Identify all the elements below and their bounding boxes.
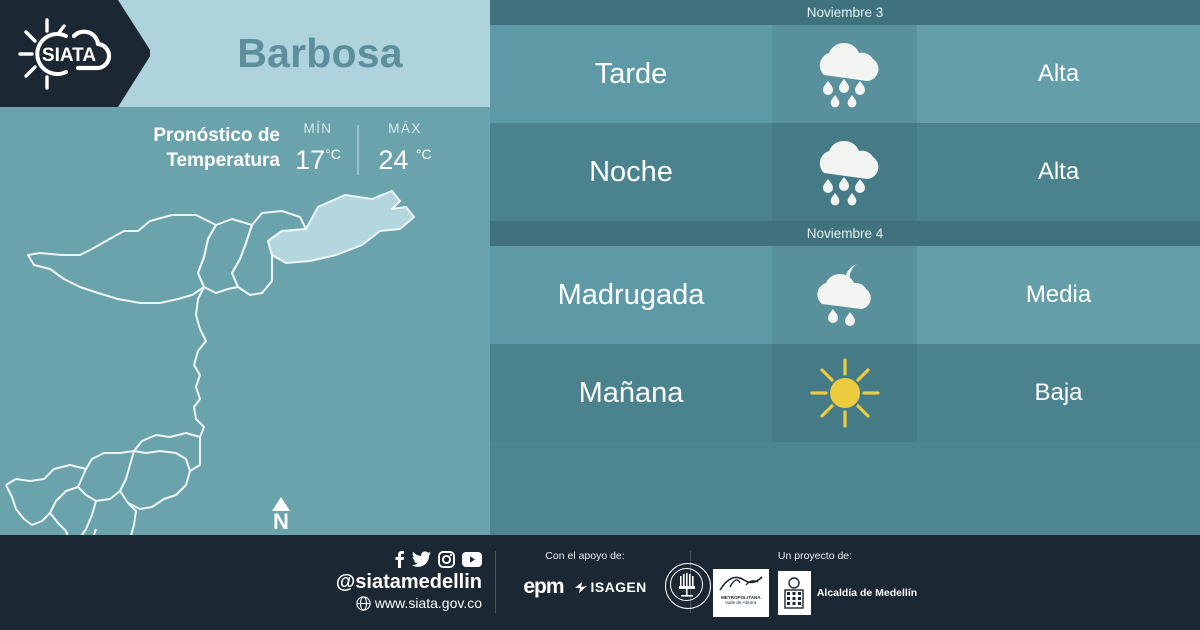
forecast-level: Media bbox=[917, 246, 1200, 344]
support-block: Con el apoyo de: epm ISAGEN bbox=[505, 550, 665, 599]
project-logos: METROPOLITANA Valle de Aburrá Alcaldía d… bbox=[700, 569, 930, 617]
temperature-min: MÍN 17°C bbox=[282, 119, 354, 175]
temperature-min-label: MÍN bbox=[282, 119, 354, 139]
globe-icon bbox=[356, 596, 371, 611]
isagen-logo: ISAGEN bbox=[574, 579, 647, 595]
temperature-divider bbox=[357, 125, 359, 175]
twitter-icon[interactable] bbox=[412, 551, 431, 567]
moon-cloud-rain-icon bbox=[772, 246, 917, 344]
alcaldia-label: Alcaldía de Medellín bbox=[817, 587, 917, 599]
forecast-period: Madrugada bbox=[490, 246, 772, 344]
footer-divider-1 bbox=[495, 551, 496, 613]
forecast-level: Alta bbox=[917, 123, 1200, 221]
area-logo-line2: Valle de Aburrá bbox=[713, 600, 769, 605]
forecast-period: Tarde bbox=[490, 25, 772, 123]
website-line[interactable]: www.siata.gov.co bbox=[330, 594, 482, 612]
min-degree-unit: °C bbox=[325, 146, 341, 162]
date-band-day2: Noviembre 4 bbox=[490, 221, 1200, 246]
rain-cloud-icon bbox=[772, 123, 917, 221]
temperature-title: Pronóstico de Temperatura bbox=[30, 123, 280, 173]
epm-logo: epm bbox=[523, 575, 563, 599]
left-panel: SIATA Barbosa Pronóstico de Temperatura … bbox=[0, 0, 490, 535]
compass-north: N bbox=[272, 497, 290, 532]
left-header: SIATA Barbosa bbox=[0, 0, 490, 107]
social-block: @siatamedellin www.siata.gov.co bbox=[330, 549, 482, 612]
forecast-period: Noche bbox=[490, 123, 772, 221]
forecast-level: Baja bbox=[917, 344, 1200, 442]
sun-cloud-icon: SIATA bbox=[14, 14, 124, 94]
left-body: Pronóstico de Temperatura MÍN 17°C MÁX 2… bbox=[0, 107, 490, 535]
temperature-title-line1: Pronóstico de bbox=[30, 123, 280, 148]
date-band-day1: Noviembre 3 bbox=[490, 0, 1200, 25]
youtube-icon[interactable] bbox=[462, 552, 482, 567]
precipitation-panel: Pronóstico de Precipitación Noviembre 3 … bbox=[490, 0, 1200, 535]
compass-label: N bbox=[273, 509, 289, 534]
isagen-mark-icon bbox=[574, 581, 588, 594]
forecast-row: Madrugada Media bbox=[490, 246, 1200, 344]
temperature-max: MÁX 24 °C bbox=[362, 119, 448, 175]
forecast-level: Alta bbox=[917, 25, 1200, 123]
instagram-icon[interactable] bbox=[438, 551, 455, 568]
rain-cloud-icon bbox=[772, 25, 917, 123]
website-text: www.siata.gov.co bbox=[375, 594, 482, 612]
municipality-map: N bbox=[0, 169, 490, 535]
forecast-row: Tarde Alta bbox=[490, 25, 1200, 123]
footer: @siatamedellin www.siata.gov.co Con el a… bbox=[0, 535, 1200, 630]
max-degree-unit: °C bbox=[416, 146, 432, 162]
forecast-period: Mañana bbox=[490, 344, 772, 442]
forecast-row: Noche Alta bbox=[490, 123, 1200, 221]
project-block: Un proyecto de: METROPOLITANA Valle de A… bbox=[700, 550, 930, 617]
forecast-row: Mañana Baja bbox=[490, 344, 1200, 442]
social-icons bbox=[330, 549, 482, 569]
area-metropolitana-logo: METROPOLITANA Valle de Aburrá bbox=[713, 569, 769, 617]
temperature-max-label: MÁX bbox=[362, 119, 448, 139]
support-logos: epm ISAGEN bbox=[505, 575, 665, 599]
social-handle[interactable]: @siatamedellin bbox=[330, 570, 482, 594]
project-caption: Un proyecto de: bbox=[700, 550, 930, 562]
page-title: Barbosa bbox=[150, 0, 490, 107]
siata-logo-pennant: SIATA bbox=[0, 0, 150, 107]
facebook-icon[interactable] bbox=[394, 550, 405, 568]
map-svg bbox=[0, 169, 490, 535]
map-highlight-barbosa bbox=[268, 191, 414, 263]
alcaldia-logo: Alcaldía de Medellín bbox=[778, 571, 917, 615]
support-caption: Con el apoyo de: bbox=[505, 550, 665, 562]
logo-text: SIATA bbox=[42, 45, 96, 66]
weather-forecast-card: SIATA Barbosa Pronóstico de Temperatura … bbox=[0, 0, 1200, 630]
sun-icon bbox=[772, 344, 917, 442]
